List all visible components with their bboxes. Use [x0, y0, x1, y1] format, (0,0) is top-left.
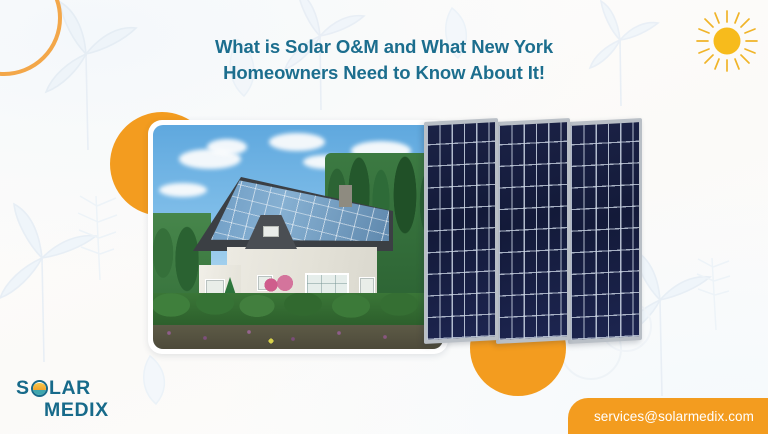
- solar-panel-group: [424, 120, 644, 352]
- flower-bed: [153, 325, 443, 349]
- dormer-window: [263, 226, 279, 237]
- solar-panel: [424, 118, 498, 344]
- house-photo-card: [148, 120, 448, 354]
- contact-email-text: services@solarmedix.com: [594, 409, 754, 424]
- hedge-row: [153, 293, 443, 327]
- page-title-line-1: What is Solar O&M and What New York: [0, 34, 768, 60]
- chimney: [339, 185, 352, 207]
- cloud: [207, 139, 247, 155]
- logo-line-1: S LAR: [16, 378, 109, 399]
- house-photo: [153, 125, 443, 349]
- logo-text-medix: MEDIX: [44, 401, 109, 420]
- page-title-line-2: Homeowners Need to Know About It!: [0, 60, 768, 86]
- solar-panel-cells: [571, 122, 639, 340]
- contact-email-badge[interactable]: services@solarmedix.com: [568, 398, 768, 434]
- sun-circle-icon: [31, 380, 48, 397]
- logo-letter-s: S: [16, 379, 30, 398]
- cloud: [269, 133, 325, 151]
- logo-line-2: MEDIX: [16, 400, 109, 421]
- solar-panel-cells: [499, 122, 567, 340]
- brand-logo[interactable]: S LAR MEDIX: [16, 378, 109, 421]
- solar-panel: [568, 118, 642, 344]
- page-title: What is Solar O&M and What New York Home…: [0, 34, 768, 86]
- solar-panel-cells: [427, 122, 495, 340]
- logo-text-lar: LAR: [49, 379, 91, 398]
- solar-panel: [496, 118, 570, 344]
- cloud: [159, 183, 207, 197]
